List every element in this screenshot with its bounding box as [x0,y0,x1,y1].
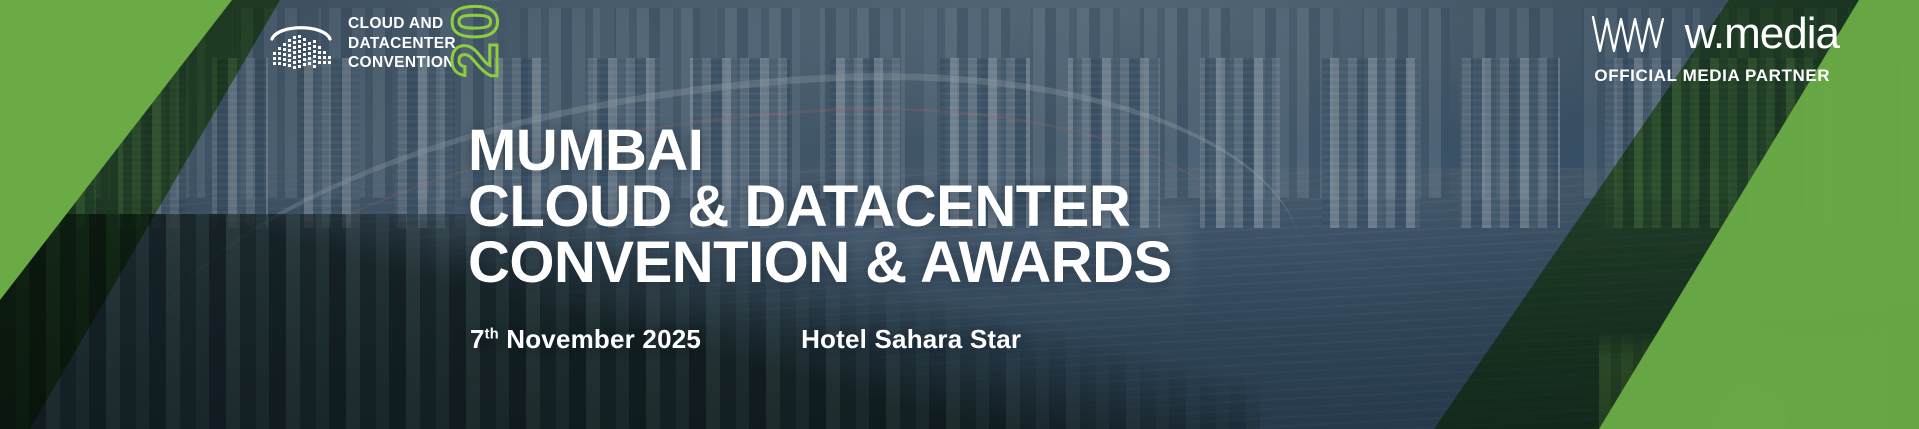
event-venue: Hotel Sahara Star [801,324,1021,355]
wmedia-logo[interactable]: w.media [1590,12,1839,56]
cdc-logo[interactable]: CLOUD AND DATACENTER CONVENTION [268,14,456,73]
headline-line-subject: CLOUD & DATACENTER [468,179,1172,235]
cloud-datacenter-convention-mark [268,18,334,70]
event-date-rest: November 2025 [499,324,701,354]
banner-content: CLOUD AND DATACENTER CONVENTION 2025 MUM… [0,0,1919,429]
event-date-ordinal: th [485,326,499,342]
year-2025-vertical: 2025 [443,0,507,78]
wmedia-wave-mark [1590,13,1672,55]
event-meta: 7th November 2025 Hotel Sahara Star [470,324,1170,355]
media-partner-role: OFFICIAL MEDIA PARTNER [1590,66,1839,86]
headline-line-event: CONVENTION & AWARDS [468,235,1172,291]
headline-line-city: MUMBAI [468,123,1172,179]
event-date: 7th November 2025 [470,324,701,355]
event-headline: MUMBAI CLOUD & DATACENTER CONVENTION & A… [468,123,1172,291]
event-banner: CLOUD AND DATACENTER CONVENTION 2025 MUM… [0,0,1919,429]
event-date-day: 7 [470,324,485,354]
wmedia-wordmark: w.media [1685,12,1839,56]
media-partner-block[interactable]: w.media OFFICIAL MEDIA PARTNER [1590,12,1839,86]
